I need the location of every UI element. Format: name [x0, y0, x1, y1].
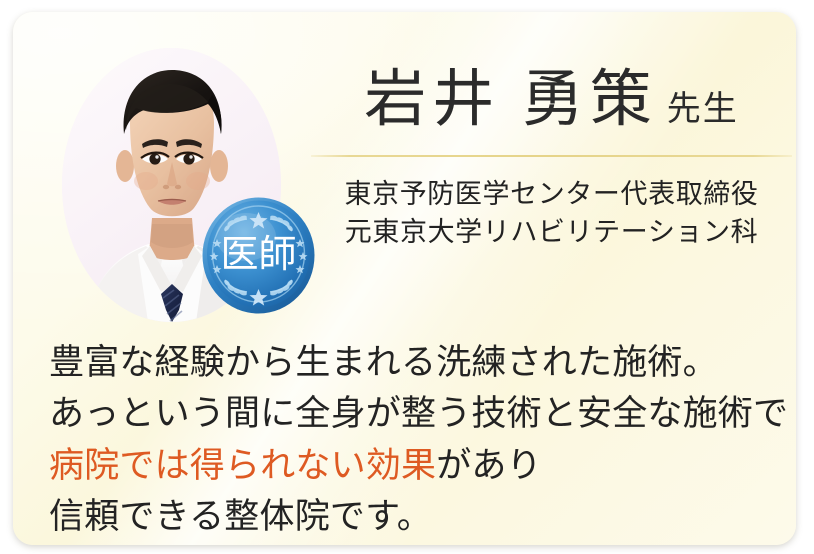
doctor-name: 岩井 勇策 — [364, 68, 658, 133]
doctor-title-line-2: 元東京大学リハビリテーション科 — [310, 213, 793, 251]
testimonial-line-3: 病院では得られない効果があり — [49, 440, 789, 491]
doctor-title-line-1: 東京予防医学センター代表取締役 — [310, 175, 793, 213]
doctor-name-row: 岩井 勇策 先生 — [310, 68, 793, 133]
doctor-header: 岩井 勇策 先生 東京予防医学センター代表取締役 元東京大学リハビリテーション科 — [310, 68, 793, 252]
testimonial-line-2-segment-1: あっという間に全身が整う技術と安全な施術で — [49, 394, 788, 433]
testimonial-line-1: 豊富な経験から生まれる洗練された施術。 — [49, 337, 789, 388]
doctor-titles: 東京予防医学センター代表取締役 元東京大学リハビリテーション科 — [310, 175, 793, 252]
header-divider — [311, 155, 792, 157]
testimonial-line-3-segment-1: 病院では得られない効果 — [49, 446, 436, 485]
badge-label: 医師 — [220, 234, 296, 276]
doctor-profile-card: 医師 岩井 勇策 先生 東京予防医学センター代表取締役 元東京大学リハビリテーシ… — [13, 12, 796, 545]
testimonial-body: 豊富な経験から生まれる洗練された施術。 あっという間に全身が整う技術と安全な施術… — [49, 337, 789, 543]
card-content: 医師 岩井 勇策 先生 東京予防医学センター代表取締役 元東京大学リハビリテーシ… — [13, 12, 796, 545]
testimonial-line-4: 信頼できる整体院です。 — [49, 491, 789, 542]
testimonial-line-1-segment-1: 豊富な経験から生まれる洗練された施術。 — [49, 343, 718, 382]
testimonial-line-2: あっという間に全身が整う技術と安全な施術で — [49, 388, 789, 439]
testimonial-line-3-segment-2: があり — [436, 446, 542, 485]
doctor-certification-badge: 医師 — [202, 197, 315, 314]
doctor-profile-card-screen: 医師 岩井 勇策 先生 東京予防医学センター代表取締役 元東京大学リハビリテーシ… — [0, 0, 814, 554]
doctor-name-honorific: 先生 — [667, 81, 739, 130]
testimonial-line-4-segment-1: 信頼できる整体院です。 — [49, 497, 432, 536]
